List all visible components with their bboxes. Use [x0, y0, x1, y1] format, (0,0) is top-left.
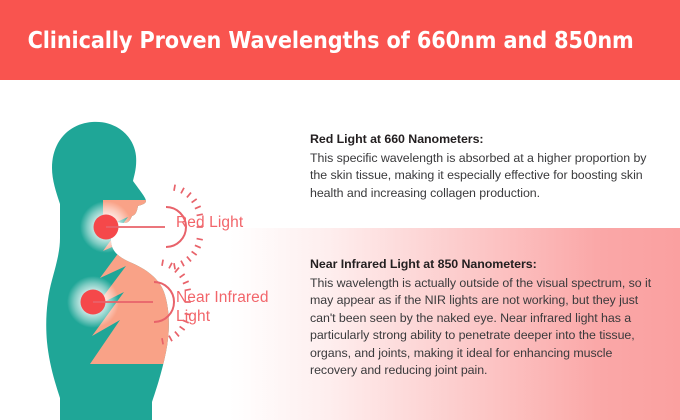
section-red-light-660: Red Light at 660 Nanometers: This specif… — [310, 131, 658, 202]
section-heading-red-light: Red Light at 660 Nanometers: — [310, 131, 658, 148]
body-illustration — [0, 80, 300, 420]
page-title: Clinically Proven Wavelengths of 660nm a… — [0, 26, 634, 54]
infographic-root: Clinically Proven Wavelengths of 660nm a… — [0, 0, 680, 420]
section-body-near-infrared: This wavelength is actually outside of t… — [310, 275, 658, 379]
section-heading-near-infrared: Near Infrared Light at 850 Nanometers: — [310, 256, 658, 273]
callout-label-red-light: Red Light — [176, 213, 243, 232]
header-banner: Clinically Proven Wavelengths of 660nm a… — [0, 0, 680, 80]
callout-label-near-infrared: Near Infrared Light — [176, 288, 286, 326]
section-near-infrared-850: Near Infrared Light at 850 Nanometers: T… — [310, 256, 658, 379]
section-body-red-light: This specific wavelength is absorbed at … — [310, 150, 658, 202]
